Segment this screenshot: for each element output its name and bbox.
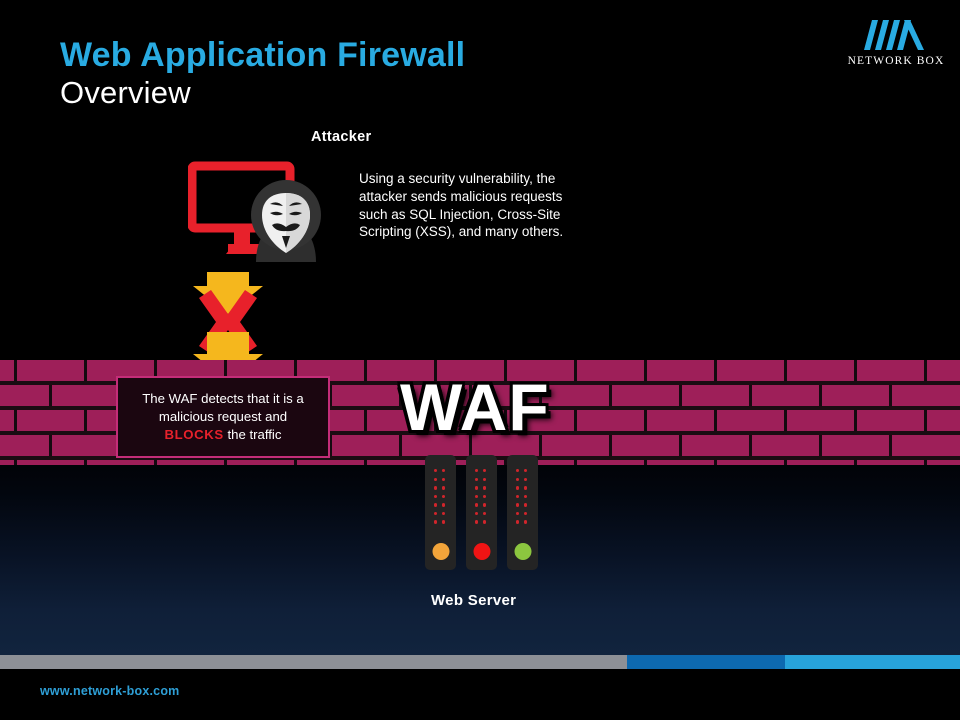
callout-text: The WAF detects that it is a malicious r… <box>136 390 309 444</box>
down-arrow-icon <box>193 272 263 314</box>
callout-line-3-suffix: the traffic <box>224 427 282 442</box>
server-status-light <box>473 543 490 560</box>
server-led-column <box>434 469 438 529</box>
server-led-column <box>475 469 479 529</box>
server-blade <box>425 455 456 570</box>
title-primary: Web Application Firewall <box>60 38 465 74</box>
title-secondary: Overview <box>60 76 465 110</box>
web-server-label: Web Server <box>431 592 516 609</box>
callout-blocks-word: BLOCKS <box>165 427 224 442</box>
footer-website-url[interactable]: www.network-box.com <box>40 684 179 698</box>
footer-bar-segment-light-blue <box>785 655 960 669</box>
footer-bar-segment-gray <box>0 655 627 669</box>
server-status-light <box>432 543 449 560</box>
waf-block-callout: The WAF detects that it is a malicious r… <box>116 376 330 458</box>
server-status-light <box>514 543 531 560</box>
logo-wordmark: NETWORK BOX <box>844 55 948 67</box>
network-box-mark-icon <box>844 14 944 54</box>
server-led-column <box>524 469 528 529</box>
server-blade <box>507 455 538 570</box>
waf-label: WAF <box>400 374 550 440</box>
web-server-rack-icon <box>425 455 538 570</box>
attack-description: Using a security vulnerability, the atta… <box>359 170 564 241</box>
brand-logo: NETWORK BOX <box>844 14 948 67</box>
callout-line-1: The WAF detects that it is a <box>142 391 303 406</box>
attacker-monitor-hacker-icon <box>188 160 338 270</box>
server-led-column <box>483 469 487 529</box>
footer-bar-segment-blue <box>627 655 785 669</box>
page-title: Web Application Firewall Overview <box>60 38 465 110</box>
server-led-column <box>442 469 446 529</box>
slide-canvas: Web Application Firewall Overview NETWOR… <box>0 0 960 720</box>
server-blade <box>466 455 497 570</box>
server-led-column <box>516 469 520 529</box>
callout-line-2: malicious request and <box>159 409 287 424</box>
attacker-label: Attacker <box>311 129 371 145</box>
footer-color-bar <box>0 655 960 669</box>
